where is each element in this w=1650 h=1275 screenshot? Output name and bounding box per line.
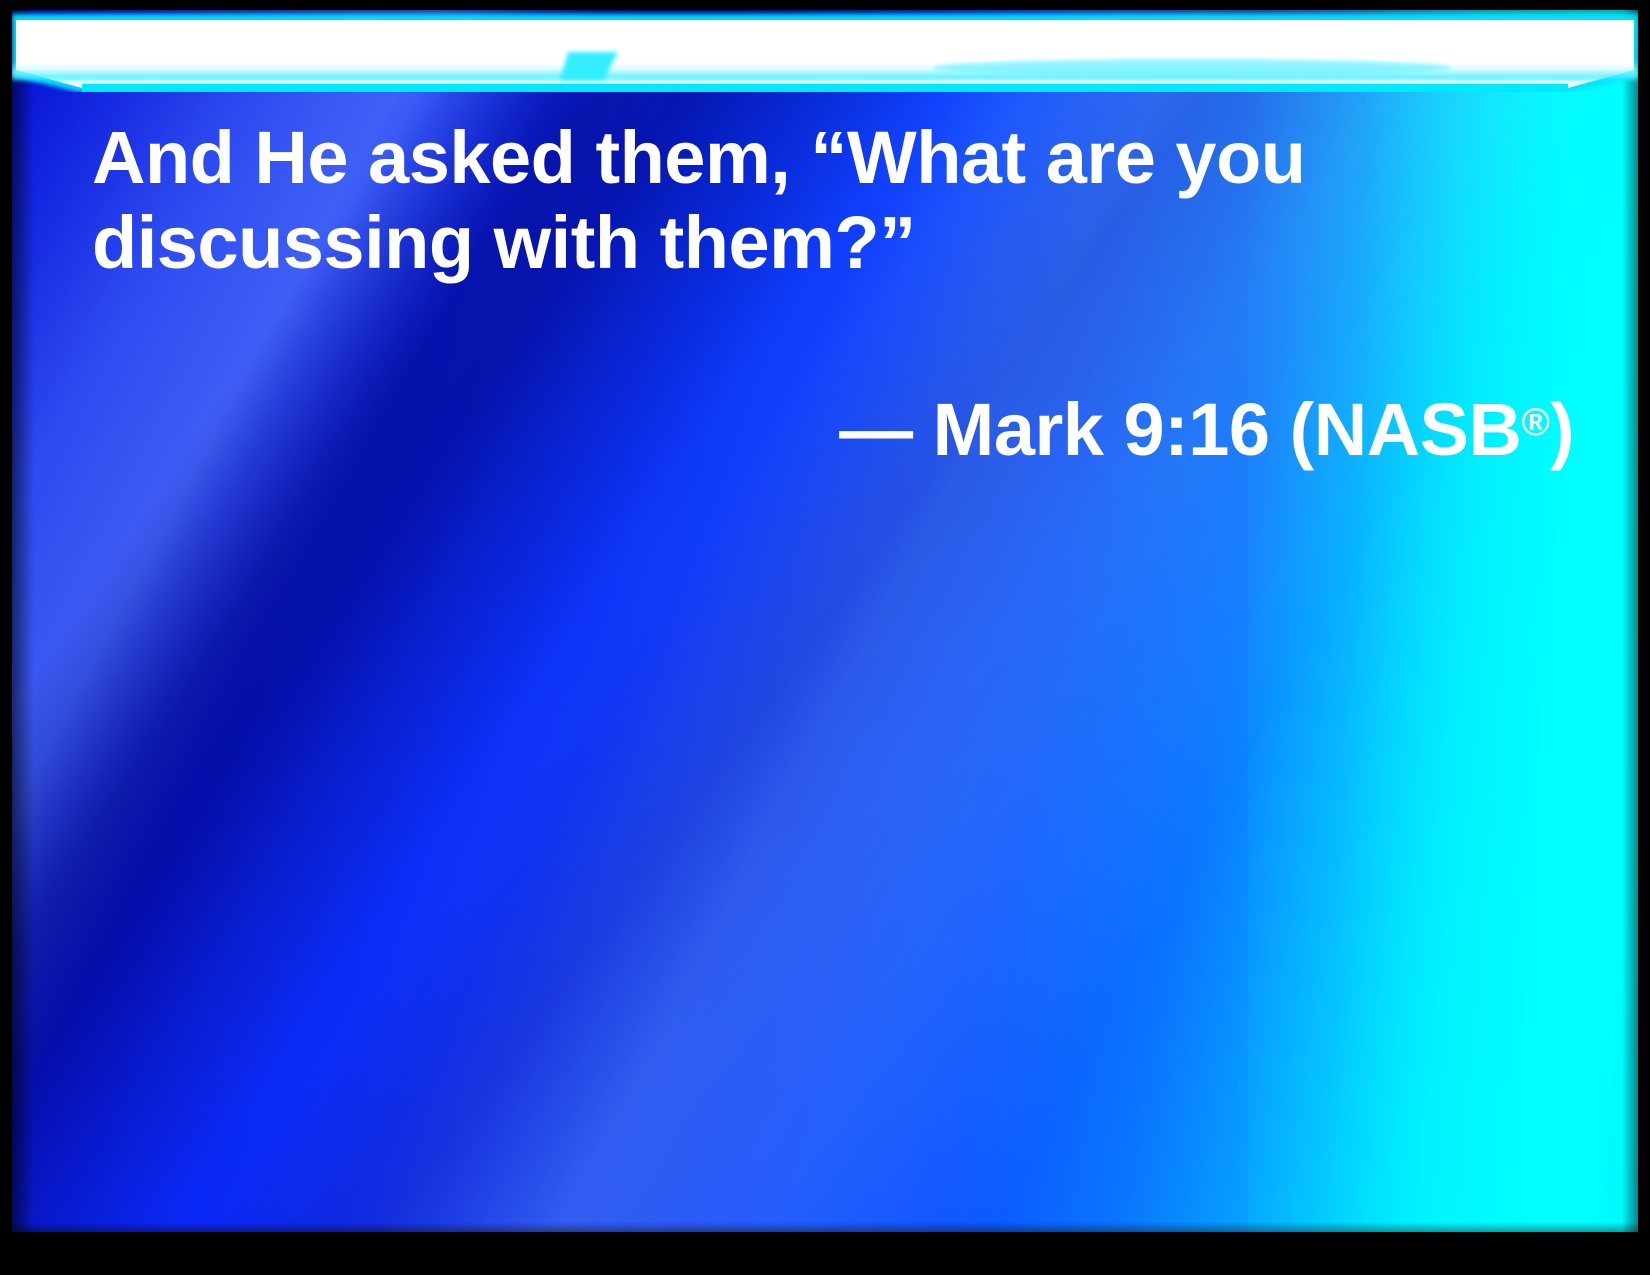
- verse-attribution: — Mark 9:16 (NASB®): [92, 295, 1582, 557]
- attribution-reference: Mark 9:16 (NASB: [933, 388, 1522, 471]
- slide-canvas: And He asked them, “What are you discuss…: [12, 10, 1638, 1232]
- registered-trademark-icon: ®: [1521, 401, 1549, 444]
- slide-frame: And He asked them, “What are you discuss…: [0, 0, 1650, 1275]
- attribution-em-dash: —: [839, 388, 933, 471]
- verse-text-block: And He asked them, “What are you discuss…: [92, 115, 1582, 557]
- attribution-closing-paren: ): [1550, 388, 1574, 471]
- verse-line-2: discussing with them?”: [92, 200, 1582, 285]
- verse-line-1: And He asked them, “What are you: [92, 115, 1582, 200]
